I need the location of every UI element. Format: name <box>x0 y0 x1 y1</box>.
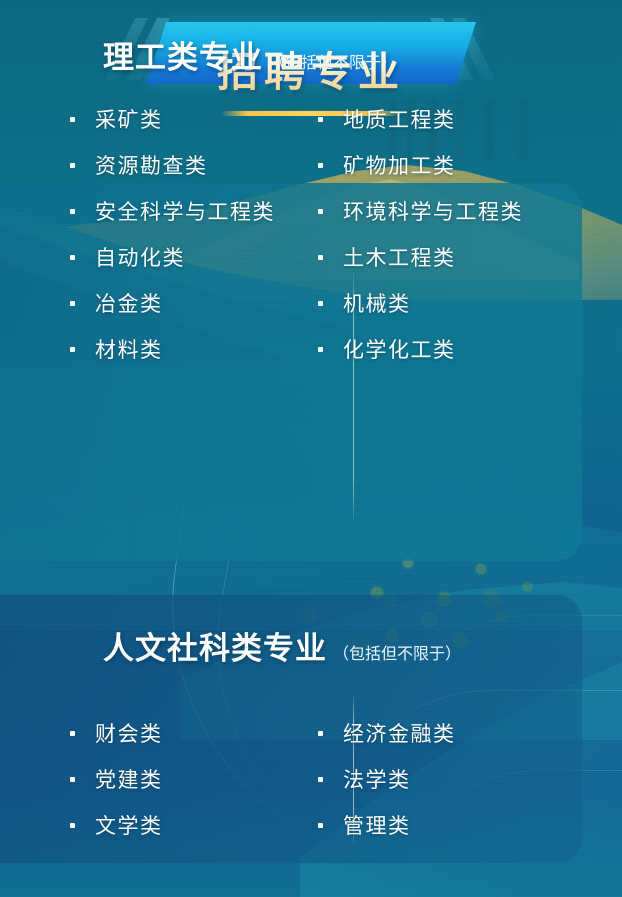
major-label: 地质工程类 <box>343 104 456 134</box>
major-label: 环境科学与工程类 <box>343 196 523 226</box>
list-item: 文学类 <box>70 802 318 848</box>
bullet-icon <box>70 301 75 306</box>
list-item: 采矿类 <box>70 96 318 142</box>
bullet-icon <box>70 731 75 736</box>
major-label: 资源勘查类 <box>95 150 208 180</box>
list-item: 经济金融类 <box>318 710 456 756</box>
major-label: 财会类 <box>95 718 163 748</box>
bullet-icon <box>318 255 323 260</box>
major-columns-humanities-social-sciences: 财会类 党建类 文学类 经济金融类 法学类 管理类 <box>70 710 456 848</box>
bullet-icon <box>318 731 323 736</box>
bullet-icon <box>70 117 75 122</box>
major-label: 采矿类 <box>95 104 163 134</box>
bullet-icon <box>70 255 75 260</box>
major-label: 法学类 <box>343 764 411 794</box>
list-item: 资源勘查类 <box>70 142 318 188</box>
bullet-icon <box>70 347 75 352</box>
list-item: 地质工程类 <box>318 96 523 142</box>
bullet-icon <box>318 163 323 168</box>
section-header-science-engineering: 理工类专业 （包括但不限于） <box>103 32 397 77</box>
major-label: 土木工程类 <box>343 242 456 272</box>
section-header-humanities-social-sciences: 人文社科类专业 （包括但不限于） <box>103 623 461 668</box>
list-item: 环境科学与工程类 <box>318 188 523 234</box>
section-note: （包括但不限于） <box>269 49 397 73</box>
major-column-left: 采矿类 资源勘查类 安全科学与工程类 自动化类 冶金类 材料类 <box>70 96 318 372</box>
major-label: 安全科学与工程类 <box>95 196 275 226</box>
bullet-icon <box>70 163 75 168</box>
major-label: 材料类 <box>95 334 163 364</box>
list-item: 材料类 <box>70 326 318 372</box>
major-label: 管理类 <box>343 810 411 840</box>
bullet-icon <box>318 209 323 214</box>
major-columns-science-engineering: 采矿类 资源勘查类 安全科学与工程类 自动化类 冶金类 材料类 地质工程类 <box>70 96 523 372</box>
major-column-right: 经济金融类 法学类 管理类 <box>318 710 456 848</box>
list-item: 法学类 <box>318 756 456 802</box>
major-label: 机械类 <box>343 288 411 318</box>
bullet-icon <box>318 347 323 352</box>
list-item: 土木工程类 <box>318 234 523 280</box>
major-label: 经济金融类 <box>343 718 456 748</box>
major-column-left: 财会类 党建类 文学类 <box>70 710 318 848</box>
major-label: 矿物加工类 <box>343 150 456 180</box>
major-label: 自动化类 <box>95 242 185 272</box>
list-item: 机械类 <box>318 280 523 326</box>
list-item: 党建类 <box>70 756 318 802</box>
section-title: 理工类专业 <box>103 32 263 77</box>
major-label: 冶金类 <box>95 288 163 318</box>
bullet-icon <box>318 117 323 122</box>
bullet-icon <box>70 823 75 828</box>
section-note: （包括但不限于） <box>333 640 461 664</box>
list-item: 自动化类 <box>70 234 318 280</box>
bullet-icon <box>318 777 323 782</box>
list-item: 冶金类 <box>70 280 318 326</box>
list-item: 化学化工类 <box>318 326 523 372</box>
list-item: 安全科学与工程类 <box>70 188 318 234</box>
bullet-icon <box>70 777 75 782</box>
major-column-right: 地质工程类 矿物加工类 环境科学与工程类 土木工程类 机械类 化学化工类 <box>318 96 523 372</box>
list-item: 财会类 <box>70 710 318 756</box>
major-label: 文学类 <box>95 810 163 840</box>
list-item: 管理类 <box>318 802 456 848</box>
list-item: 矿物加工类 <box>318 142 523 188</box>
bullet-icon <box>318 301 323 306</box>
bullet-icon <box>318 823 323 828</box>
major-label: 党建类 <box>95 764 163 794</box>
bullet-icon <box>70 209 75 214</box>
section-title: 人文社科类专业 <box>103 623 327 668</box>
major-label: 化学化工类 <box>343 334 456 364</box>
